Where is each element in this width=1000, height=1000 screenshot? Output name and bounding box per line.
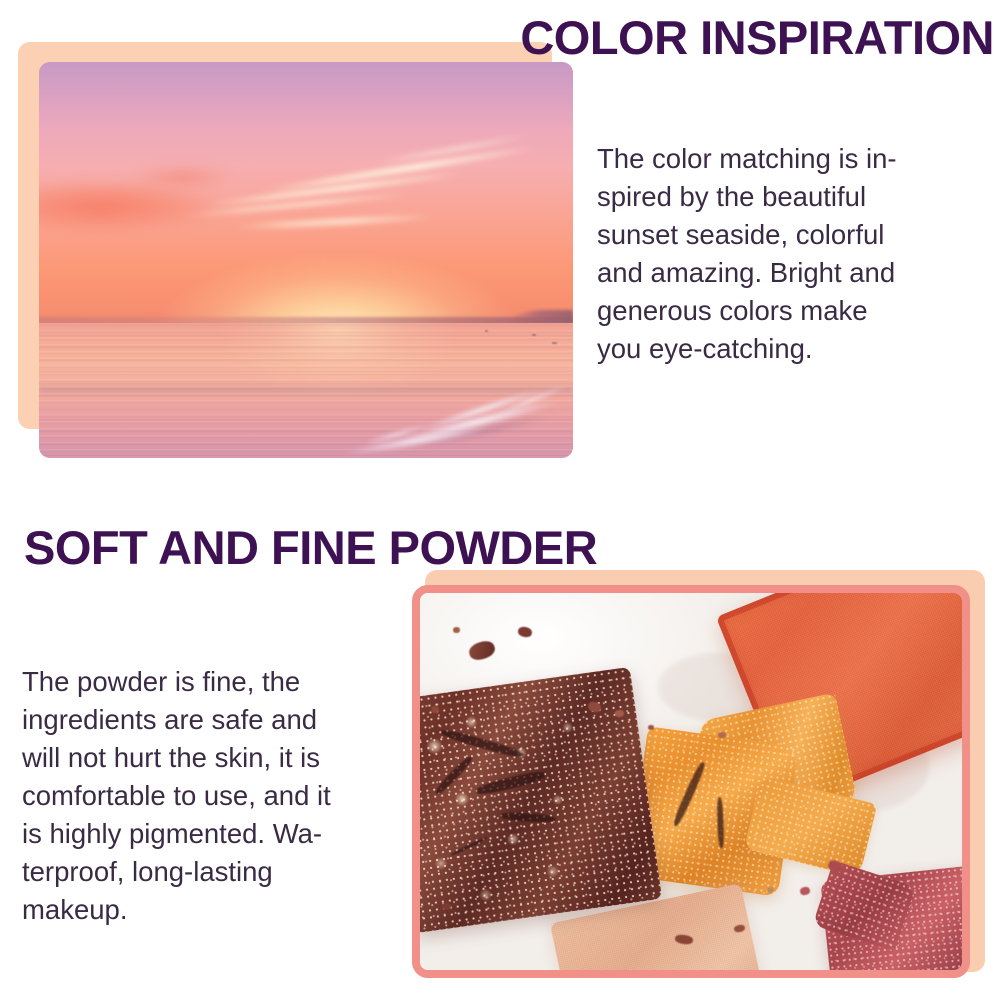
paragraph-soft-and-fine-powder: The powder is fine, the ingredients are …	[22, 663, 404, 929]
paragraph-line: and amazing. Bright and	[597, 254, 969, 292]
cloud-streak	[254, 144, 540, 195]
paragraph-line: ingredients are safe and	[22, 701, 404, 739]
paragraph-line: spired by the beautiful	[597, 178, 969, 216]
powder-crumb	[517, 626, 533, 639]
powder-crumb	[767, 887, 774, 893]
paragraph-line: is highly pigmented. Wa-	[22, 815, 404, 853]
page-title-color-inspiration: COLOR INSPIRATION	[520, 14, 994, 61]
burgundy-eyeshadow-pan	[420, 667, 663, 933]
paragraph-line: will not hurt the skin, it is	[22, 739, 404, 777]
paragraph-line: sunset seaside, colorful	[597, 216, 969, 254]
sunset-seaside-photo	[39, 62, 573, 458]
powder-crumb	[799, 886, 811, 896]
paragraph-line: generous colors make	[597, 292, 969, 330]
crushed-eyeshadow-photo-frame	[412, 585, 970, 978]
seabird	[532, 334, 536, 336]
infographic-canvas: COLOR INSPIRATION The color matching is …	[0, 0, 1000, 1000]
water-dark-band	[39, 385, 573, 394]
powder-crumb	[648, 725, 654, 730]
powder-crumb	[431, 706, 439, 713]
cloud-puff	[124, 164, 241, 188]
seabird	[485, 330, 488, 332]
crushed-eyeshadow-photo	[420, 593, 962, 970]
sea-surface	[39, 323, 573, 458]
powder-crumb	[453, 627, 460, 633]
powder-crumb	[467, 638, 497, 662]
paragraph-line: makeup.	[22, 891, 404, 929]
paragraph-line: terproof, long-lasting	[22, 853, 404, 891]
paragraph-line: The color matching is in-	[597, 140, 969, 178]
glitter-texture	[420, 667, 663, 933]
sunset-sky	[39, 62, 573, 323]
page-title-soft-and-fine-powder: SOFT AND FINE POWDER	[24, 524, 597, 571]
paragraph-line: The powder is fine, the	[22, 663, 404, 701]
powder-crumb	[442, 903, 451, 910]
paragraph-line: you eye-catching.	[597, 330, 969, 368]
paragraph-color-inspiration: The color matching is in- spired by the …	[597, 140, 969, 368]
paragraph-line: comfortable to use, and it	[22, 777, 404, 815]
